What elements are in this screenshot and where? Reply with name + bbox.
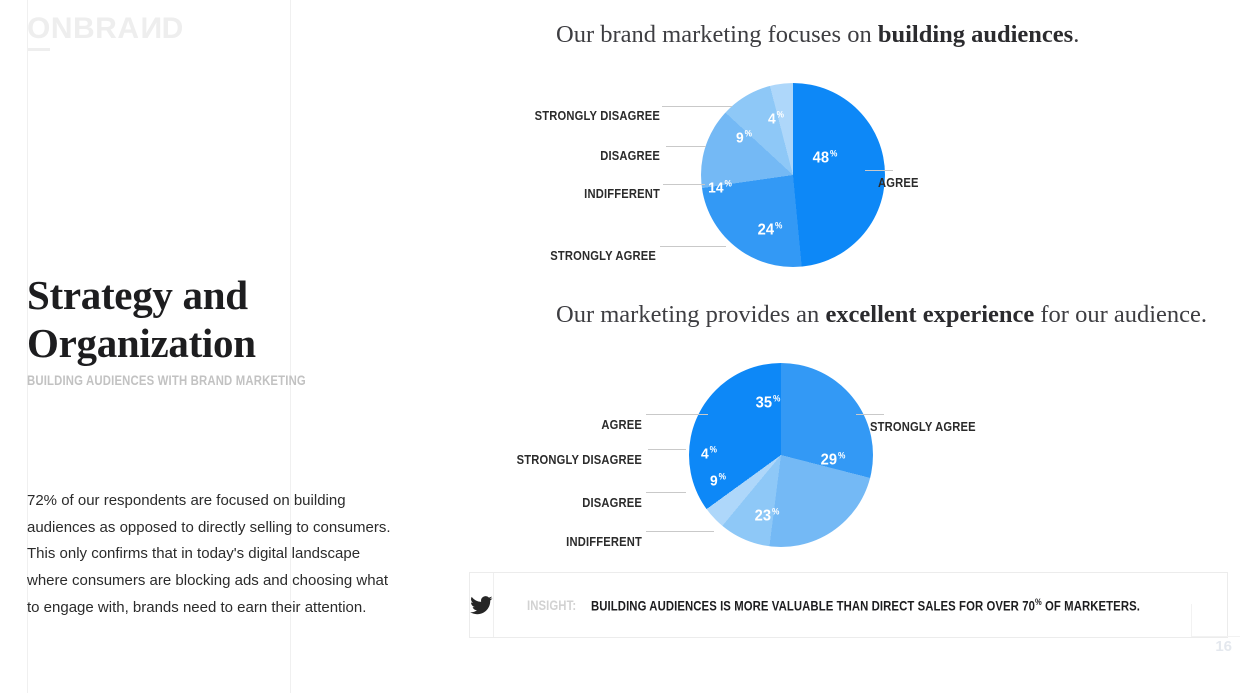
pie-2-label-strongly-disagree: STRONGLY DISAGREE bbox=[503, 453, 642, 466]
brand-logo: ONBRAND bbox=[27, 14, 184, 44]
pie-1-label-indifferent: INDIFFERENT bbox=[516, 187, 660, 200]
pie-1-leader-agree bbox=[865, 170, 893, 171]
chart2-headline-prefix: Our marketing provides an bbox=[556, 301, 825, 328]
pie-1-leader-strongly-agree bbox=[660, 246, 726, 247]
body-paragraph: 72% of our respondents are focused on bu… bbox=[27, 488, 399, 621]
pie-2-leader-indifferent bbox=[646, 531, 714, 532]
page-number: 16 bbox=[1215, 638, 1232, 655]
slide-canvas: ONBRAND Strategy and Organization BUILDI… bbox=[0, 0, 1256, 693]
pie-2-label-disagree: DISAGREE bbox=[513, 496, 642, 509]
chart1-headline-emphasis: building audiences bbox=[878, 21, 1073, 48]
insight-tag: INSIGHT: bbox=[527, 598, 576, 613]
pie-2-leader-disagree bbox=[646, 492, 686, 493]
chart2-headline: Our marketing provides an excellent expe… bbox=[556, 301, 1207, 329]
chart1-headline: Our brand marketing focuses on building … bbox=[556, 21, 1079, 49]
page-subtitle: BUILDING AUDIENCES WITH BRAND MARKETING bbox=[27, 373, 313, 388]
pie-chart-excellent-experience: 35% 29% 23% 9% 4% AGREE STRONGLY DISAGRE… bbox=[470, 358, 1010, 558]
chart1-headline-prefix: Our brand marketing focuses on bbox=[556, 21, 878, 48]
chart2-headline-emphasis: excellent experience bbox=[825, 301, 1034, 328]
pie-chart-building-audiences: 48% 24% 14% 9% 4% STRONGLY DISAGREE DISA… bbox=[470, 78, 1010, 278]
pie-1-leader-disagree bbox=[666, 146, 706, 147]
brand-logo-underbar bbox=[28, 48, 50, 51]
footer-corner-frame bbox=[1191, 604, 1240, 637]
insight-message-part-a: BUILDING AUDIENCES IS MORE VALUABLE THAN… bbox=[591, 598, 1035, 613]
chart2-headline-suffix: for our audience. bbox=[1034, 301, 1207, 328]
pie-2-leader-agree bbox=[646, 414, 708, 415]
pie-2-label-indifferent: INDIFFERENT bbox=[513, 535, 642, 548]
pie-2-graphic bbox=[689, 363, 873, 547]
pie-2-leader-strongly-disagree bbox=[648, 449, 686, 450]
pie-1-leader-strongly-disagree bbox=[662, 106, 732, 107]
pie-1-graphic bbox=[701, 83, 885, 267]
pie-2-label-agree: AGREE bbox=[513, 418, 642, 431]
insight-message-percent: % bbox=[1035, 597, 1042, 607]
insight-text: INSIGHT: BUILDING AUDIENCES IS MORE VALU… bbox=[494, 597, 1244, 614]
brand-logo-text: ONBRAND bbox=[27, 12, 184, 45]
insight-bar[interactable]: INSIGHT: BUILDING AUDIENCES IS MORE VALU… bbox=[469, 572, 1228, 638]
pie-1-label-strongly-disagree: STRONGLY DISAGREE bbox=[516, 109, 660, 122]
pie-1-leader-indifferent bbox=[663, 184, 705, 185]
insight-message: BUILDING AUDIENCES IS MORE VALUABLE THAN… bbox=[591, 597, 1140, 614]
insight-message-part-b: OF MARKETERS. bbox=[1041, 598, 1139, 613]
pie-1-label-disagree: DISAGREE bbox=[516, 149, 660, 162]
chart1-headline-suffix: . bbox=[1073, 21, 1079, 48]
twitter-bird-icon[interactable] bbox=[470, 573, 494, 637]
pie-1-label-agree: AGREE bbox=[878, 176, 919, 189]
page-title: Strategy and Organization bbox=[27, 272, 357, 367]
pie-2-leader-strongly-agree bbox=[856, 414, 884, 415]
pie-1-label-strongly-agree: STRONGLY AGREE bbox=[515, 249, 656, 262]
pie-2-label-strongly-agree: STRONGLY AGREE bbox=[870, 420, 976, 433]
